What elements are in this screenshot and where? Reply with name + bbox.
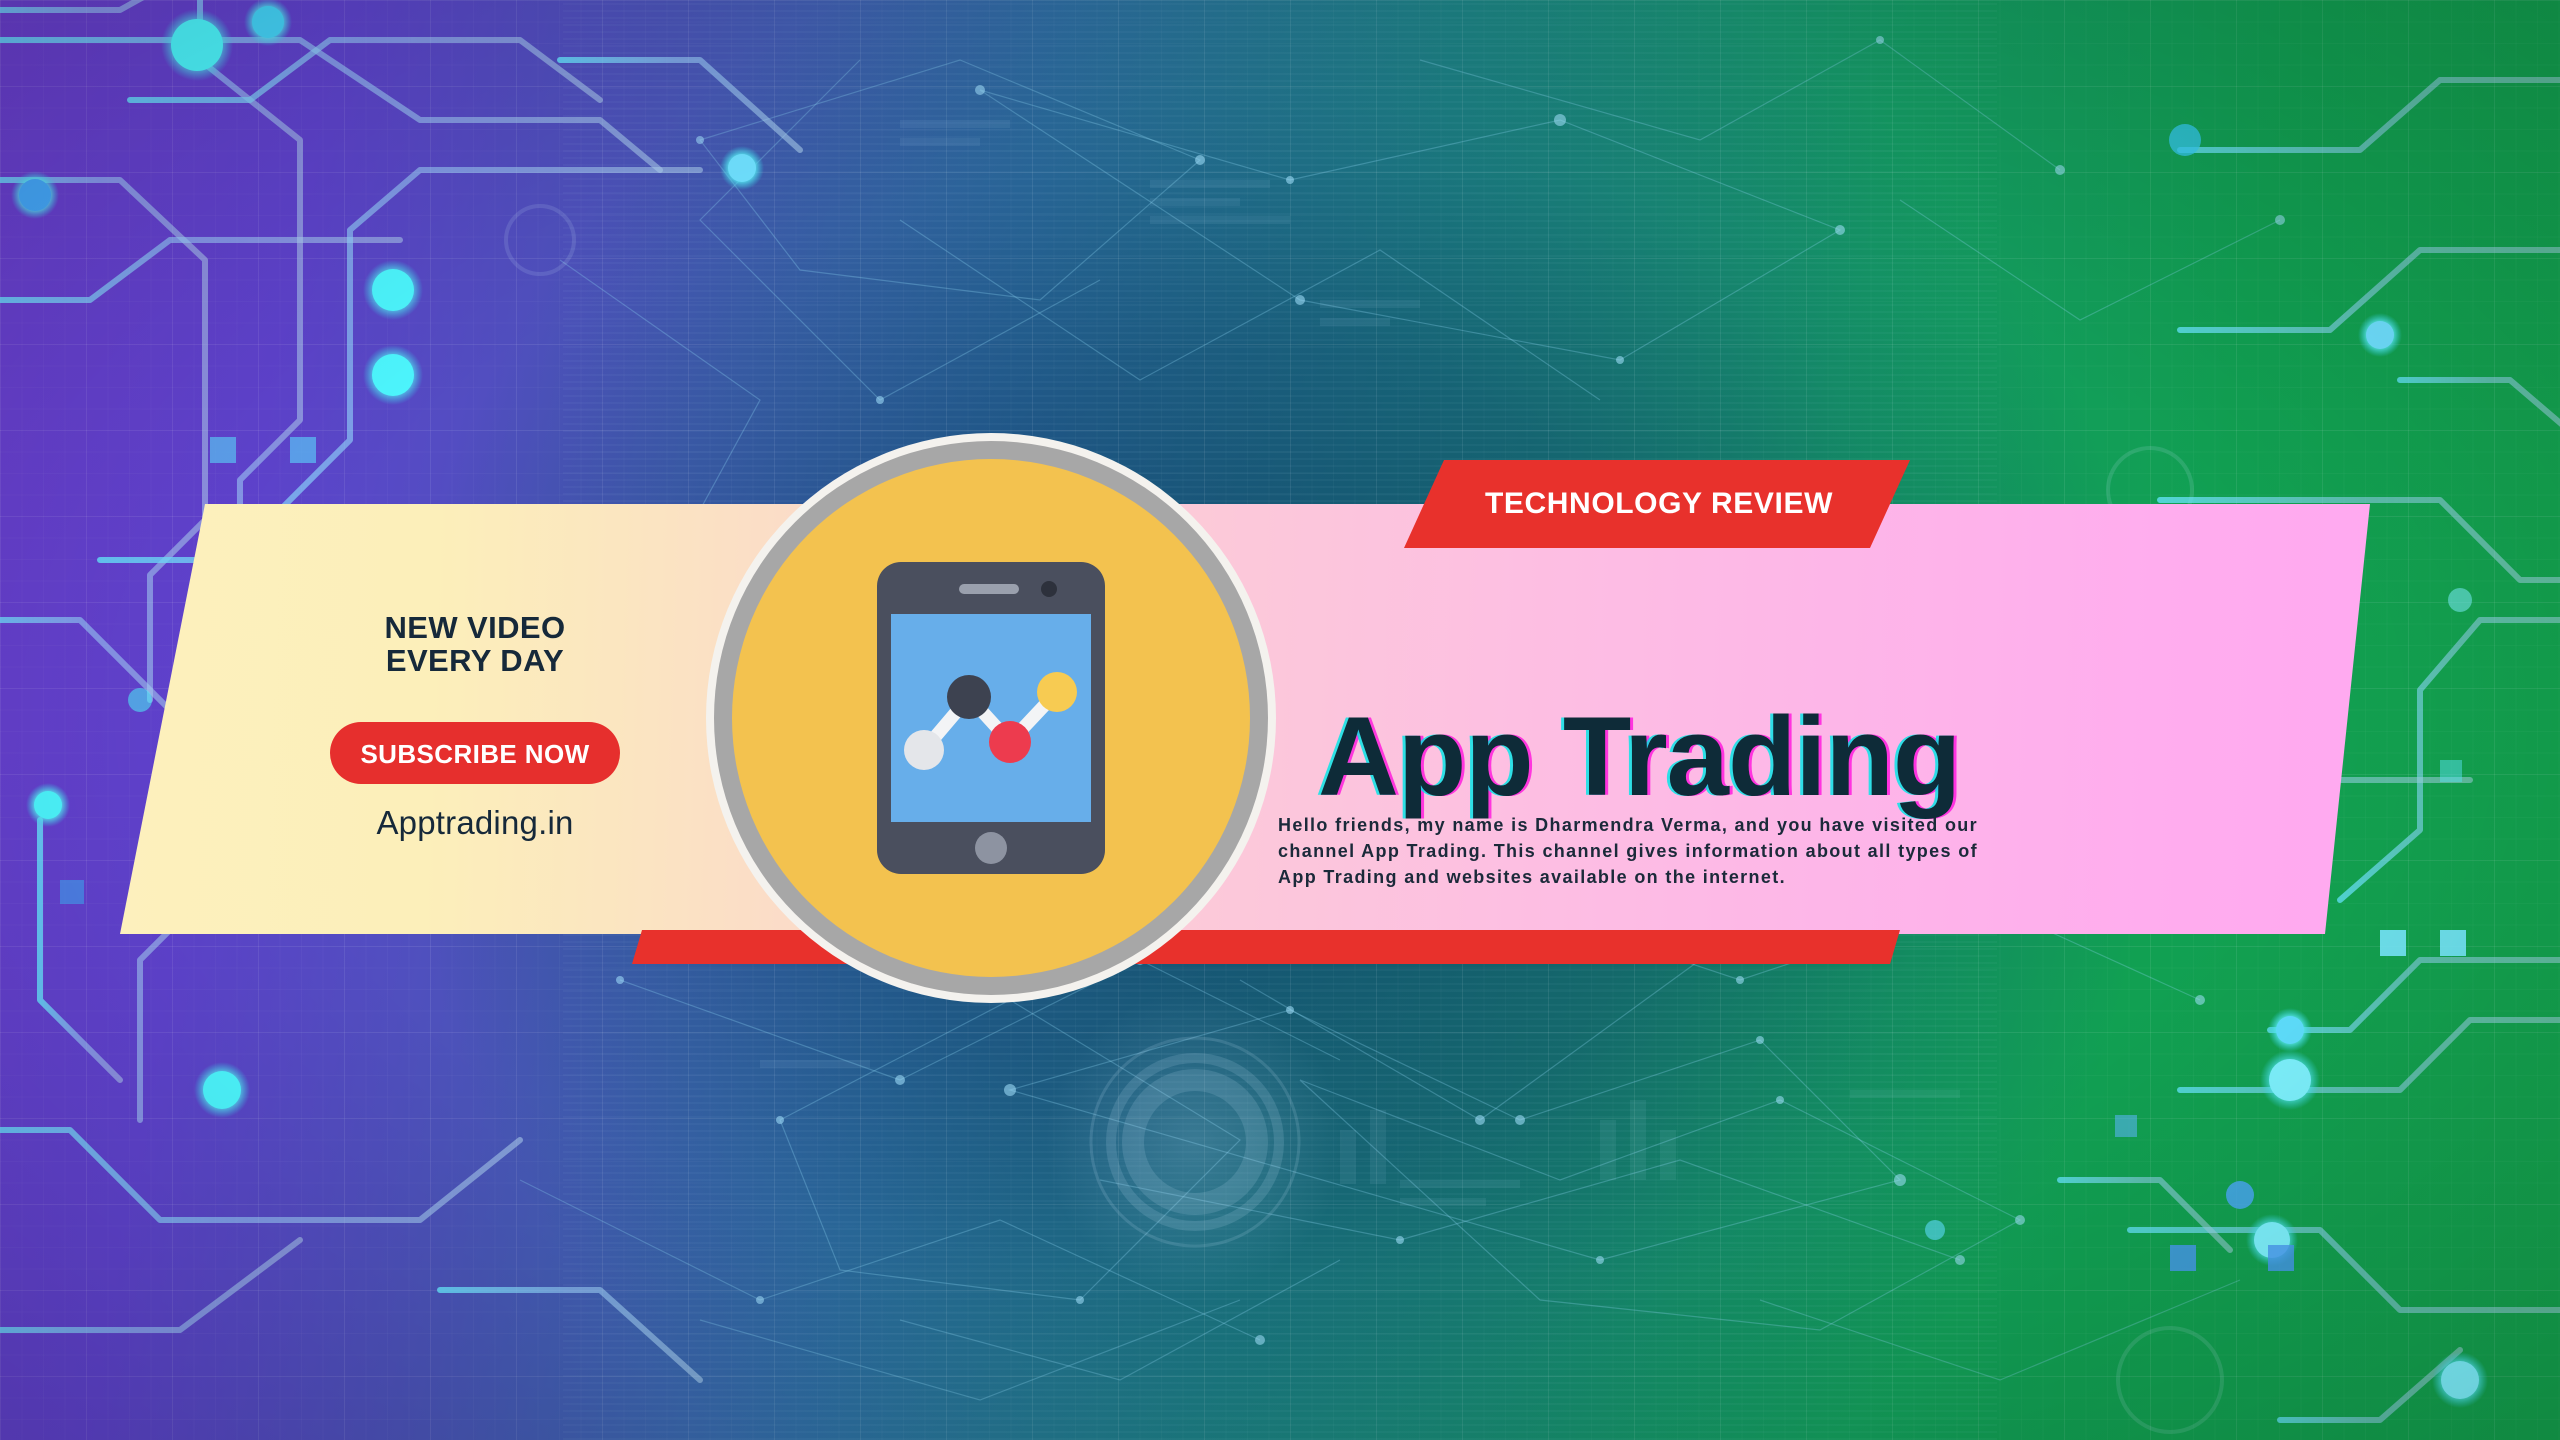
channel-description: Hello friends, my name is Dharmendra Ver…	[1278, 812, 2198, 890]
new-video-headline-line2: EVERY DAY	[360, 645, 590, 678]
new-video-headline-line1: NEW VIDEO	[360, 612, 590, 645]
smartphone-line-chart-icon	[871, 558, 1111, 878]
description-line-2: channel App Trading. This channel gives …	[1278, 838, 2198, 864]
page-title: App Trading	[1318, 701, 1960, 813]
description-line-1: Hello friends, my name is Dharmendra Ver…	[1278, 812, 2198, 838]
technology-review-ribbon: TECHNOLOGY REVIEW	[1404, 460, 1910, 548]
description-line-3: App Trading and websites available on th…	[1278, 864, 2198, 890]
channel-logo	[706, 433, 1276, 1003]
website-url-text: Apptrading.in	[360, 804, 590, 842]
channel-banner: TECHNOLOGY REVIEW NEW VIDEO EVERY DAY SU…	[0, 0, 2560, 1440]
left-promo-column: NEW VIDEO EVERY DAY SUBSCRIBE NOW Apptra…	[360, 612, 590, 842]
subscribe-now-button[interactable]: SUBSCRIBE NOW	[330, 722, 620, 784]
technology-review-label: TECHNOLOGY REVIEW	[1481, 487, 1833, 521]
